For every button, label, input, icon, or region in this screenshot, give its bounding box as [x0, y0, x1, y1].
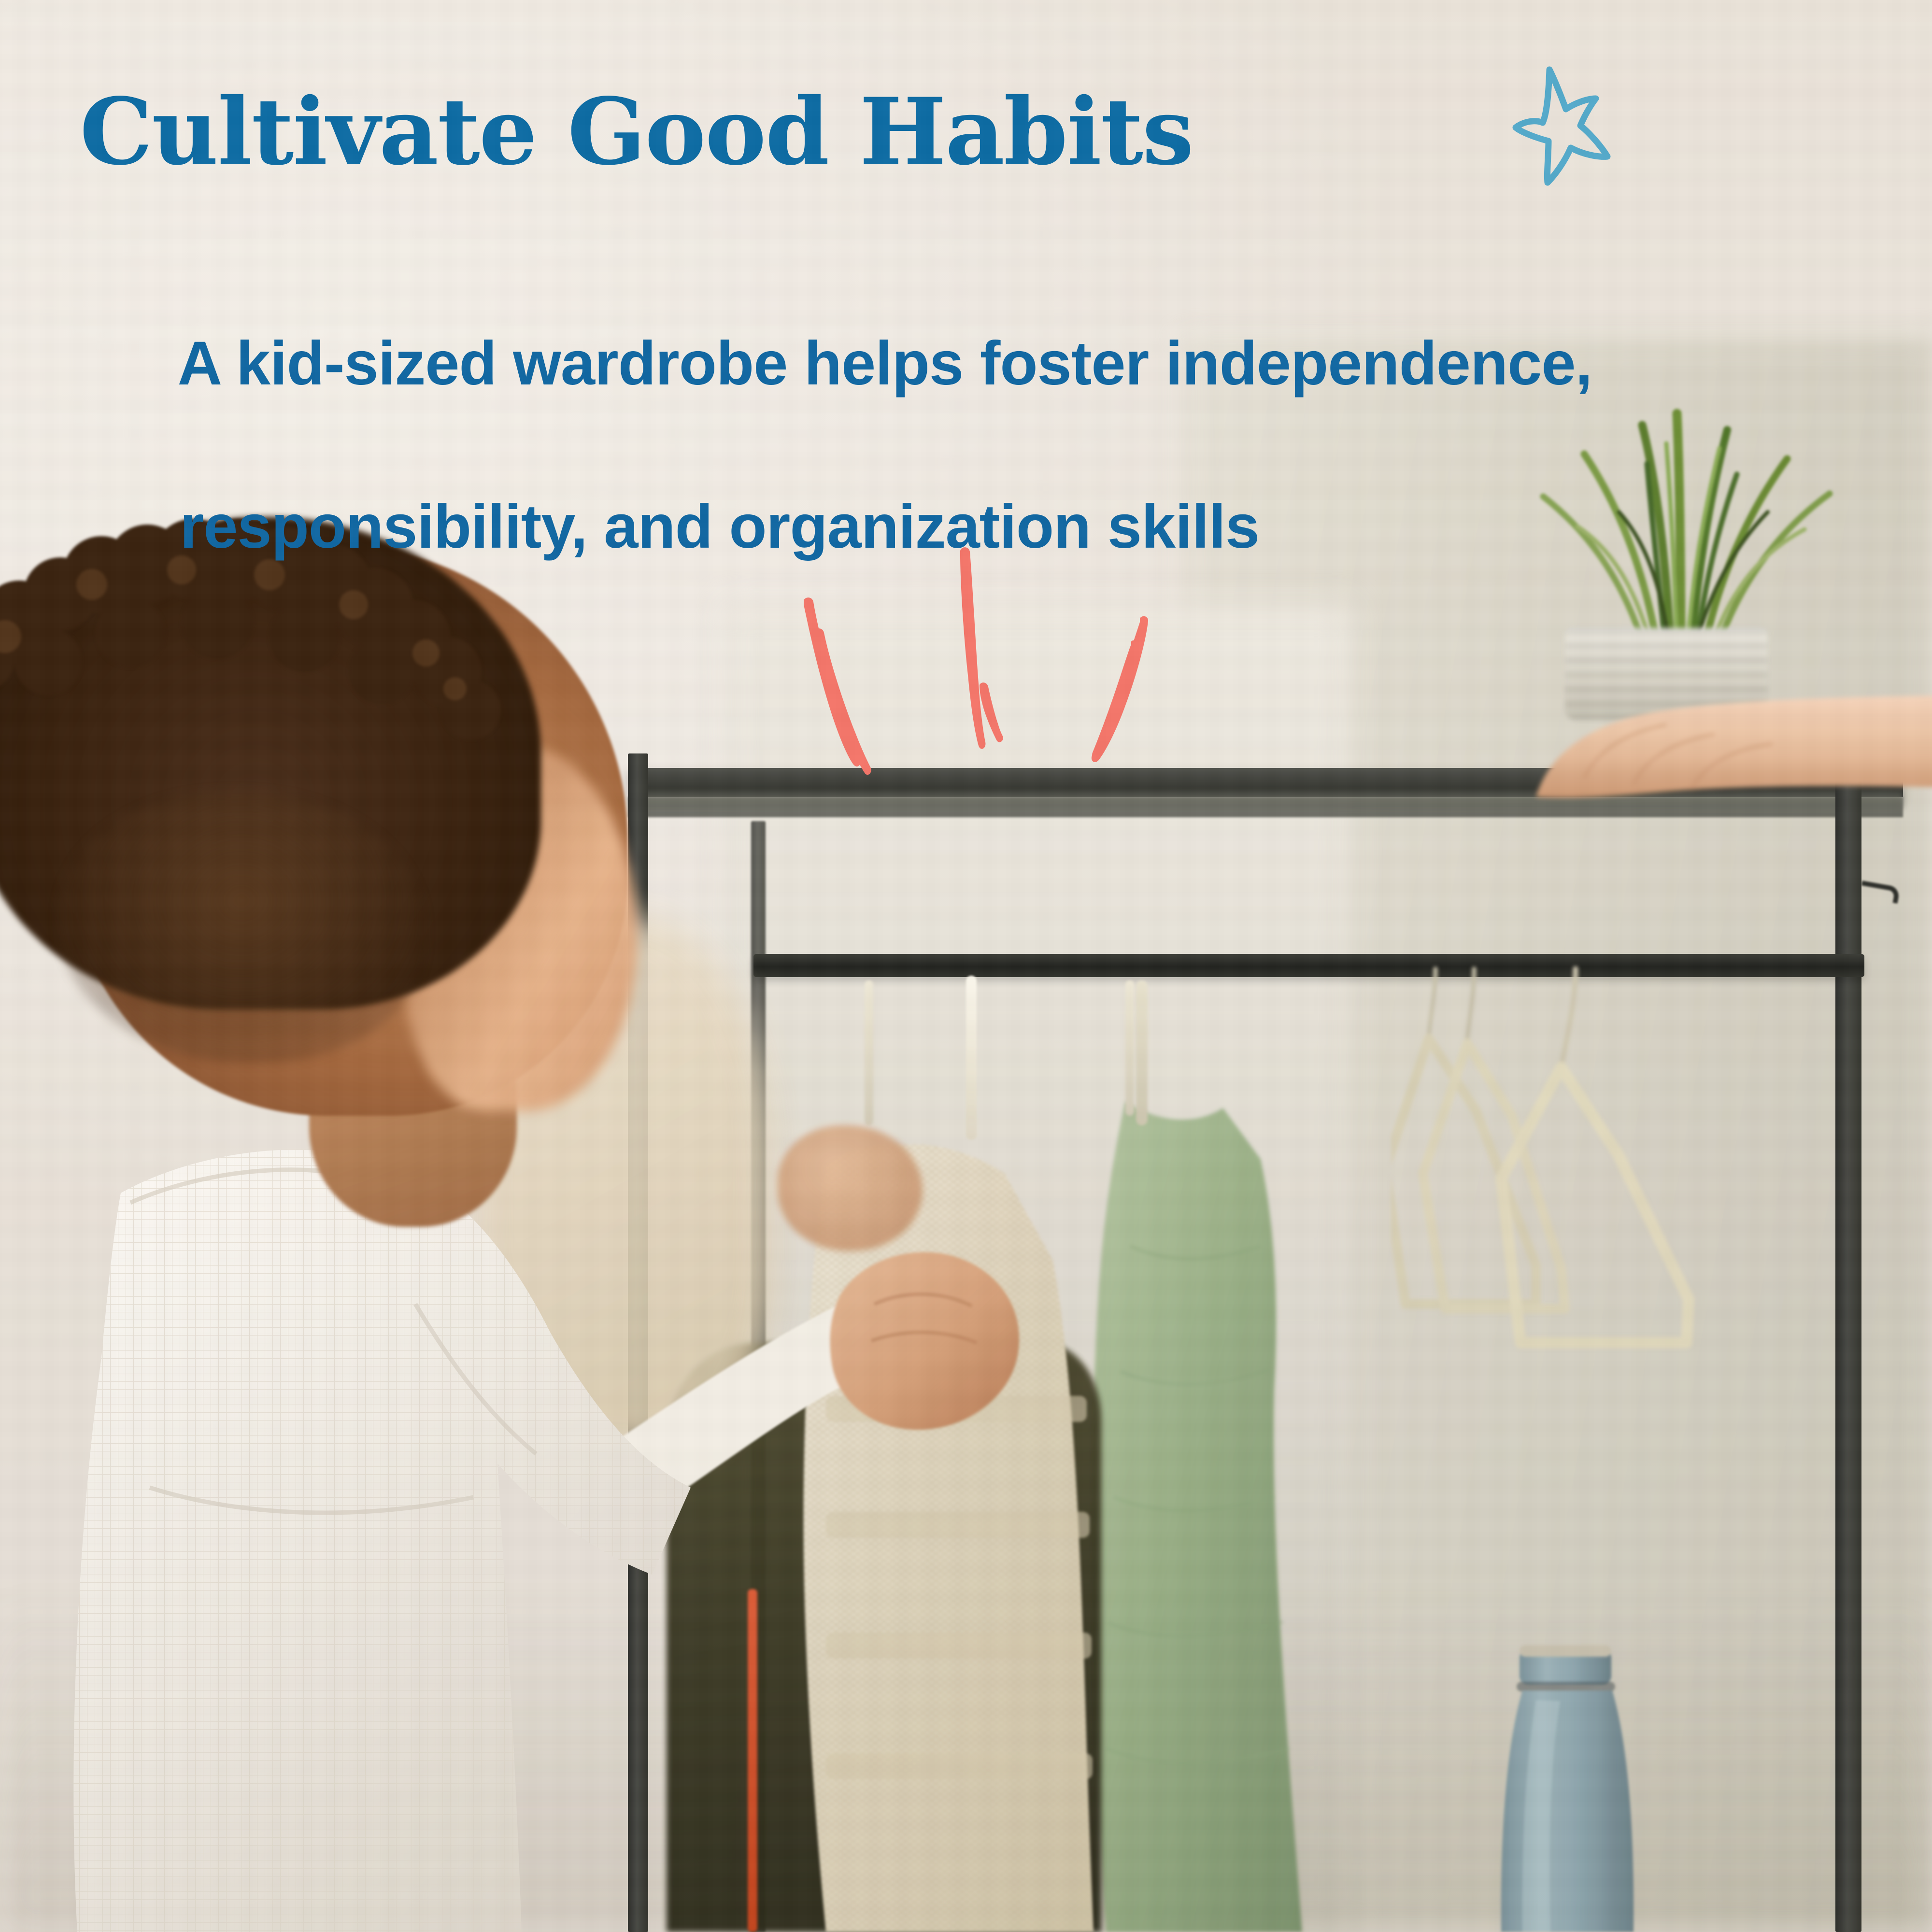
sparkle-stroke-center: [960, 547, 985, 749]
subtitle-line-1: A kid-sized wardrobe helps foster indepe…: [178, 329, 1592, 398]
star-icon: [1507, 58, 1652, 203]
page-title: Cultivate Good Habits: [80, 86, 1193, 178]
poster-canvas: Cultivate Good Habits A kid-sized wardro…: [0, 0, 1932, 1932]
sparkle-strokes: [773, 531, 1207, 782]
